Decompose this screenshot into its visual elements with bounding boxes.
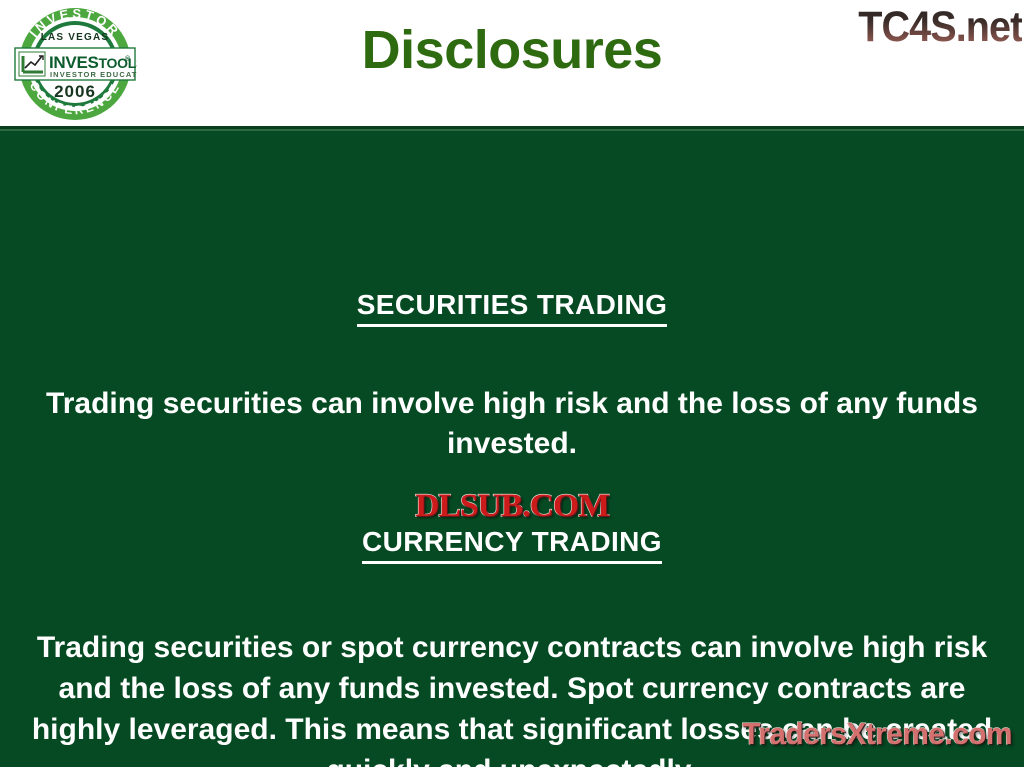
tradersxtreme-wordmark[interactable]: TradersXtreme.com [742,715,1012,753]
slide-body: SECURITIES TRADING Trading securities ca… [0,131,1024,767]
dlsub-watermark: DLSUB.COM [0,488,1024,525]
tc4s-wordmark[interactable]: TC4S.net [858,1,1022,53]
section-heading-currency-label: CURRENCY TRADING [362,526,662,564]
section-heading-currency-trading: CURRENCY TRADING [0,526,1024,558]
slide-canvas: INVESTOR CONFERENCE LAS VEGAS INVESTOOLS… [0,0,1024,767]
dlsub-watermark-label: DLSUB.COM [415,488,609,525]
section-heading-securities-label: SECURITIES TRADING [357,289,668,327]
section-heading-securities-trading: SECURITIES TRADING [0,289,1024,321]
section-body-securities-trading: Trading securities can involve high risk… [0,384,1024,464]
svg-text:2006: 2006 [54,82,96,101]
